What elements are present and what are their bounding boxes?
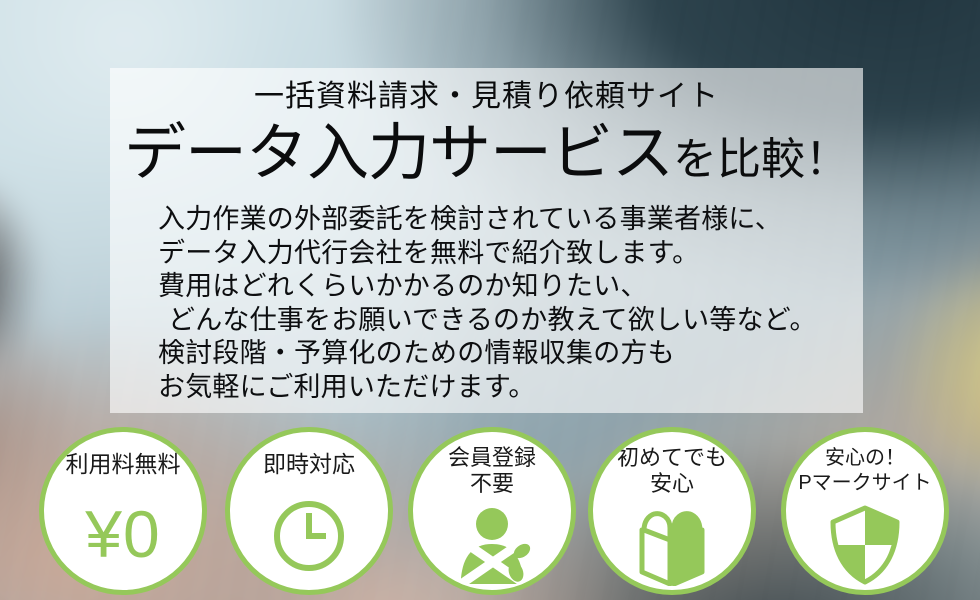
badge-beginner-friendly[interactable]: 初めてでも 安心 — [588, 427, 756, 595]
badge-free-usage[interactable]: 利用料無料 ¥0 — [39, 427, 207, 595]
page-title-suffix: を比較！ — [673, 135, 849, 184]
badge-label: 安心の！ Pマークサイト — [798, 446, 931, 496]
badge-instant-response[interactable]: 即時対応 — [225, 427, 393, 595]
beginner-leaf-mark-icon — [636, 501, 708, 590]
feature-badge-row: 利用料無料 ¥0 即時対応 会員登録 不要 — [0, 427, 980, 600]
badge-label: 即時対応 — [263, 451, 355, 478]
clock-icon — [270, 482, 348, 590]
badge-label: 会員登録 不要 — [448, 445, 536, 497]
privacy-mark-shield-icon — [829, 500, 901, 590]
badge-value: ¥0 — [85, 501, 160, 567]
badge-label: 初めてでも 安心 — [617, 445, 727, 497]
eyebrow-text: 一括資料請求・見積り依頼サイト — [110, 78, 863, 116]
body-line: どんな仕事をお願いできるのか教えて欲しい等など。 — [158, 304, 858, 338]
badge-no-registration[interactable]: 会員登録 不要 — [408, 427, 576, 595]
page-title: データ入力サービスを比較！ — [110, 117, 863, 197]
page-title-main: データ入力サービス — [124, 119, 673, 188]
body-line: お気軽にご利用いただけます。 — [158, 371, 858, 405]
no-registration-person-icon — [446, 501, 538, 590]
body-line: データ入力代行会社を無料で紹介致します。 — [158, 237, 858, 271]
yen-zero-icon: ¥0 — [85, 482, 160, 590]
heading-block: 一括資料請求・見積り依頼サイト データ入力サービスを比較！ — [110, 68, 863, 197]
badge-label: 利用料無料 — [66, 451, 181, 478]
body-line: 費用はどれくらいかかるのか知りたい、 — [158, 270, 858, 304]
promo-banner: 一括資料請求・見積り依頼サイト データ入力サービスを比較！ 入力作業の外部委託を… — [0, 0, 980, 600]
badge-privacy-mark[interactable]: 安心の！ Pマークサイト — [781, 427, 949, 595]
body-line: 入力作業の外部委託を検討されている事業者様に、 — [158, 203, 858, 237]
body-copy: 入力作業の外部委託を検討されている事業者様に、 データ入力代行会社を無料で紹介致… — [158, 203, 858, 404]
body-line: 検討段階・予算化のための情報収集の方も — [158, 337, 858, 371]
